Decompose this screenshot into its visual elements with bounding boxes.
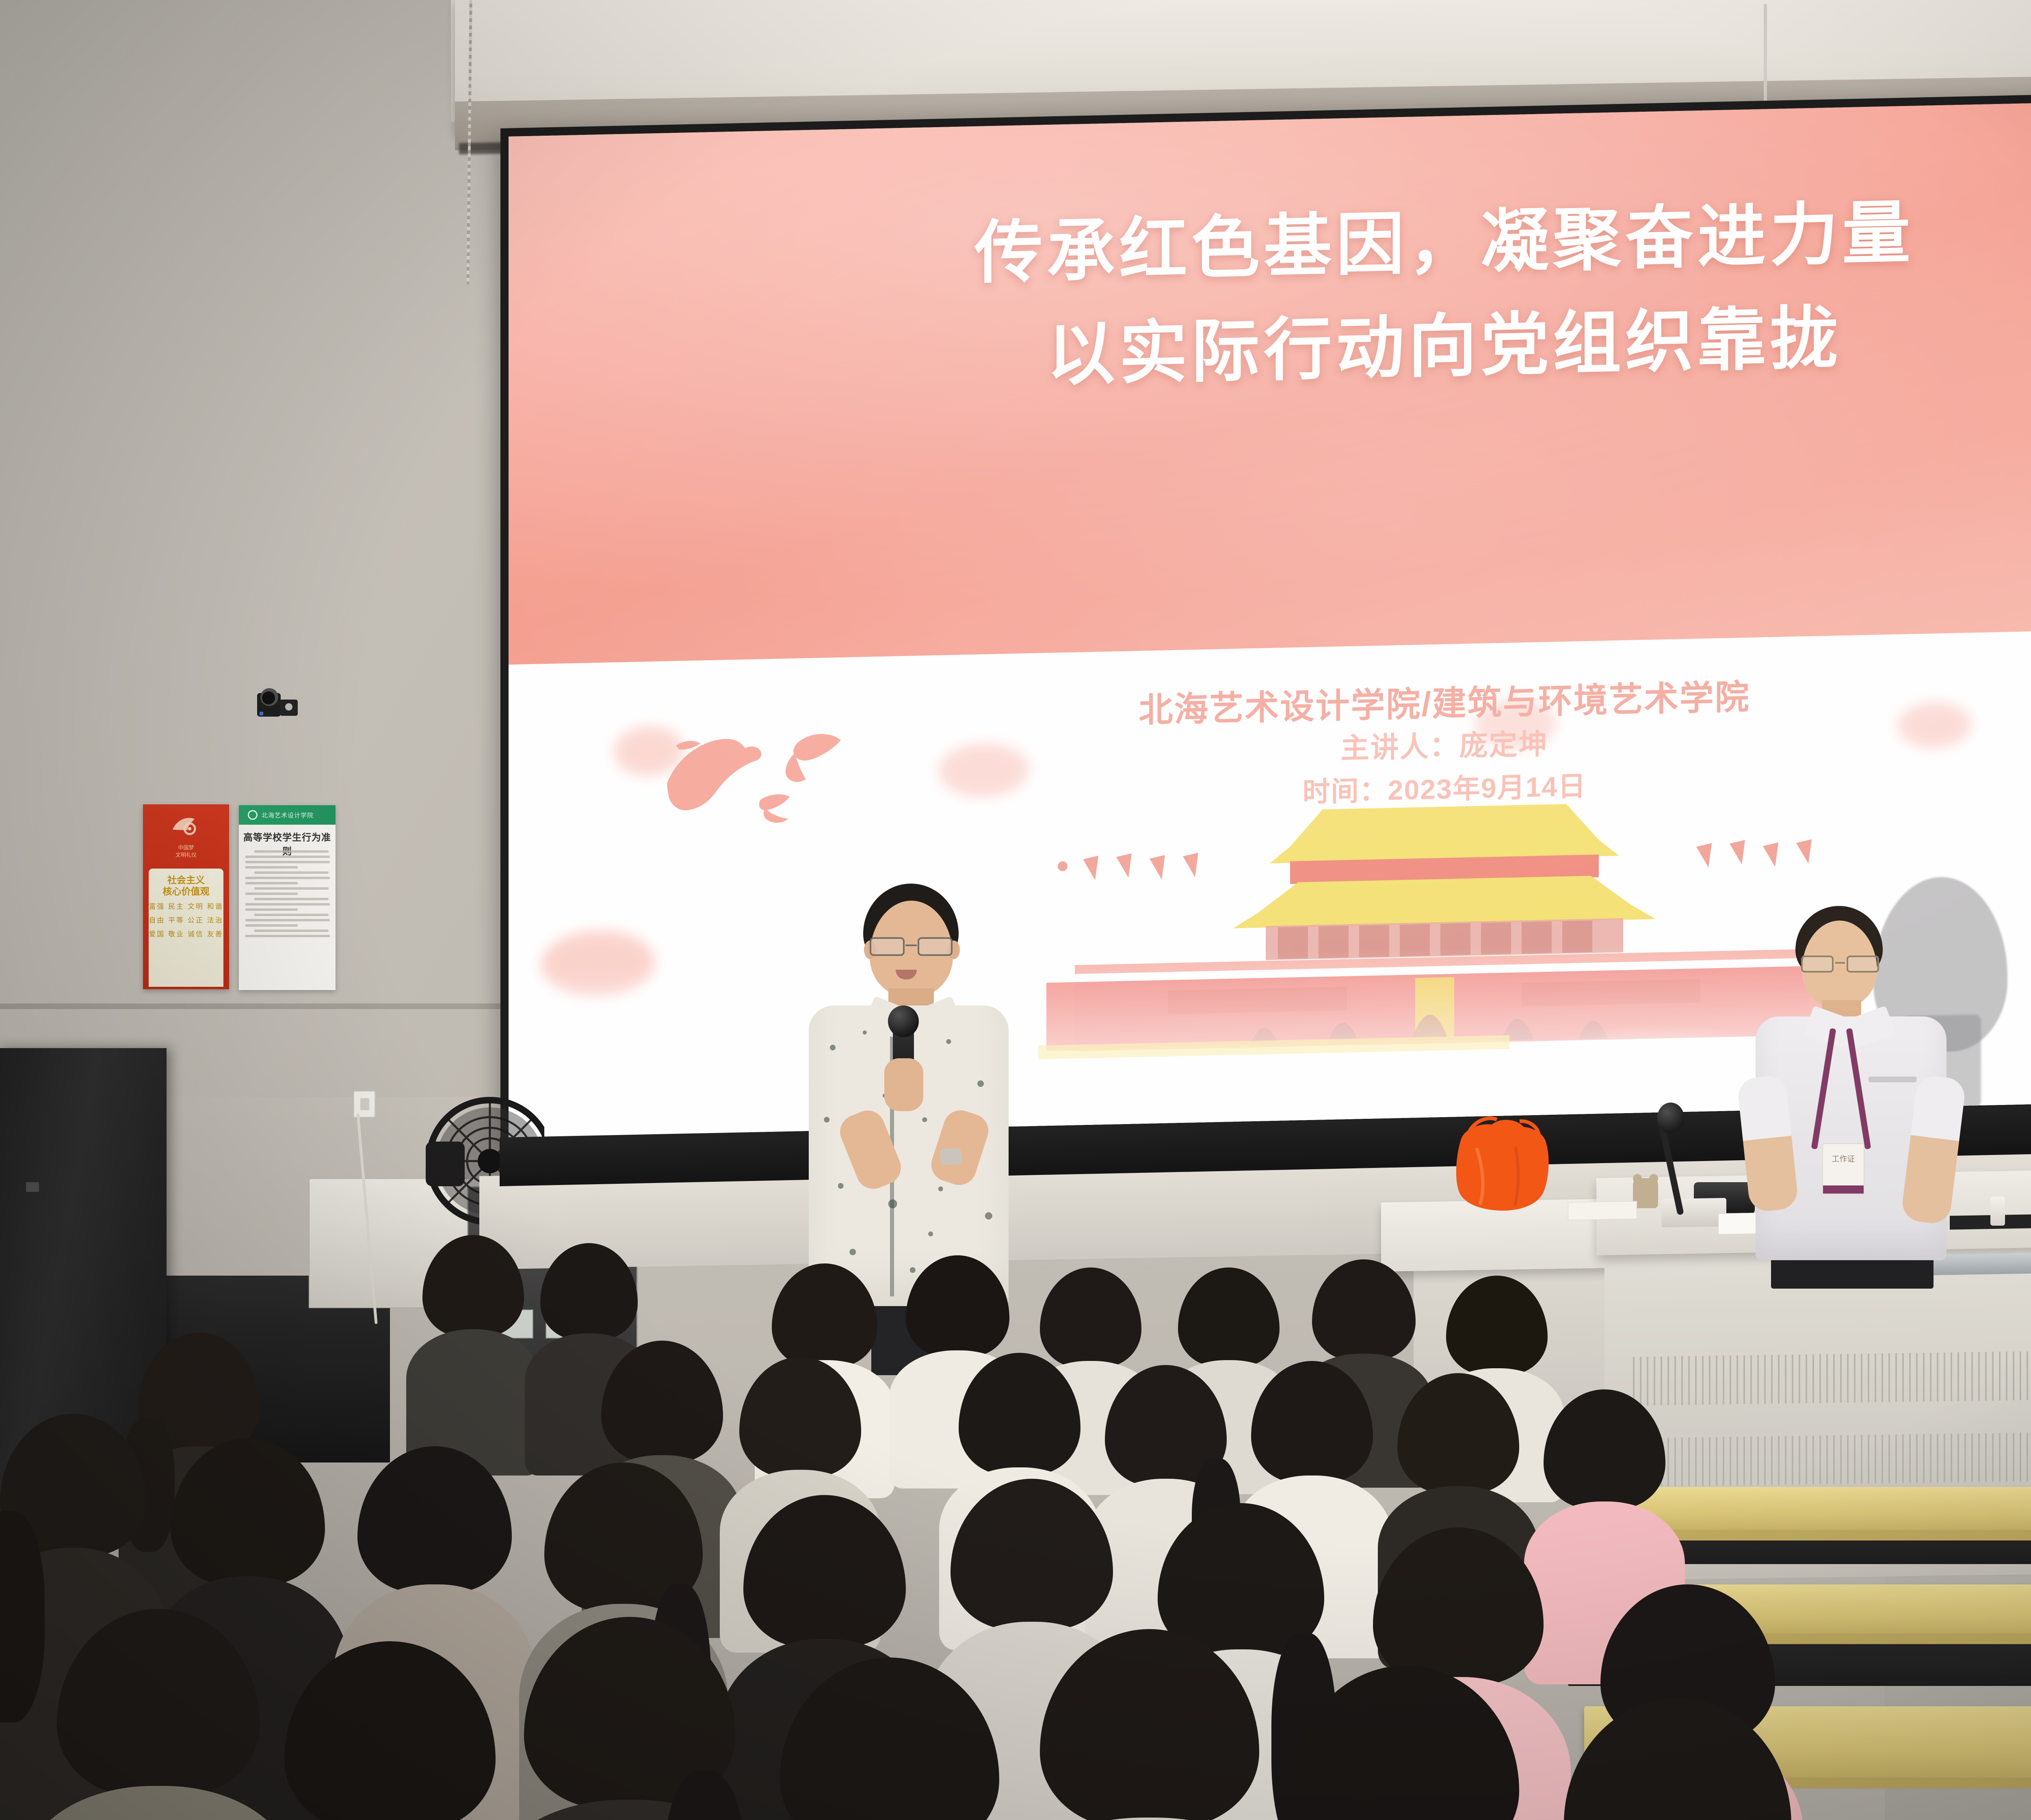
audience-member-foreground bbox=[57, 1609, 260, 1820]
desk-row-upper bbox=[1617, 1487, 2031, 1532]
presenter-hand-holding-mic bbox=[884, 1058, 923, 1111]
poster-values-line-1: 富强 民主 文明 和谐 bbox=[149, 901, 223, 911]
audience-member-foreground bbox=[780, 1657, 999, 1820]
staff-badge-text: 工作证 bbox=[1823, 1155, 1864, 1164]
gooseneck-microphone-head bbox=[1657, 1103, 1684, 1133]
photo-scene: 传承红色基因，凝聚奋进力量 以实际行动向党组织靠拢 北海艺术设计学院/建筑与环境… bbox=[0, 0, 2031, 1820]
poster-values-card: 社会主义核心价值观 富强 民主 文明 和谐 自由 平等 公正 法治 爱国 敬业 … bbox=[149, 869, 223, 987]
staff-shirt-pocket bbox=[1869, 1077, 1916, 1082]
poster-emblem-icon bbox=[169, 813, 203, 843]
audience-member-foreground bbox=[1292, 1666, 1519, 1820]
microphone-base bbox=[1661, 1198, 1726, 1228]
staff-at-console: 工作证 bbox=[1747, 906, 1958, 1304]
handheld-microphone-head bbox=[888, 1005, 919, 1037]
audience-member-foreground bbox=[1040, 1629, 1259, 1820]
poster-values-line-3: 爱国 敬业 诚信 友善 bbox=[149, 928, 223, 938]
staff-glasses-icon bbox=[1800, 955, 1880, 973]
presenter-wristwatch bbox=[940, 1148, 961, 1165]
orange-plastic-bag bbox=[1440, 1109, 1566, 1215]
school-logo-icon bbox=[248, 810, 258, 820]
poster-green-body-lines bbox=[245, 847, 330, 986]
staff-id-badge: 工作证 bbox=[1822, 1143, 1864, 1194]
water-bottle bbox=[1990, 1196, 2005, 1226]
poster-green-header-text: 北海艺术设计学院 bbox=[262, 811, 314, 819]
poster-student-code-of-conduct: 北海艺术设计学院 高等学校学生行为准则 bbox=[239, 805, 336, 990]
poster-socialist-core-values: 中国梦文明礼仪 社会主义核心价值观 富强 民主 文明 和谐 自由 平等 公正 法… bbox=[143, 804, 229, 989]
console-vent-upper bbox=[1633, 1348, 2031, 1406]
audience-member bbox=[422, 1235, 524, 1462]
desk-papers-left bbox=[1568, 1201, 1637, 1220]
staff-badge-footer bbox=[1823, 1185, 1864, 1194]
poster-values-line-2: 自由 平等 公正 法治 bbox=[149, 914, 223, 925]
console-vent-lower bbox=[1633, 1429, 2031, 1487]
presenter-glasses-icon bbox=[868, 937, 954, 956]
poster-values-title: 社会主义核心价值观 bbox=[149, 874, 223, 897]
speaker-brand-logo bbox=[26, 1182, 39, 1192]
ptz-camera-icon bbox=[254, 679, 302, 721]
left-wall-dado bbox=[0, 1003, 569, 1009]
audience-member-foreground bbox=[524, 1617, 735, 1820]
audience-member-foreground bbox=[284, 1641, 496, 1820]
slide-title-block: 传承红色基因，凝聚奋进力量 以实际行动向党组织靠拢 bbox=[509, 171, 2031, 419]
audience-member-foreground bbox=[1564, 1698, 1791, 1820]
poster-emblem-subtext: 中国梦文明礼仪 bbox=[143, 844, 229, 858]
